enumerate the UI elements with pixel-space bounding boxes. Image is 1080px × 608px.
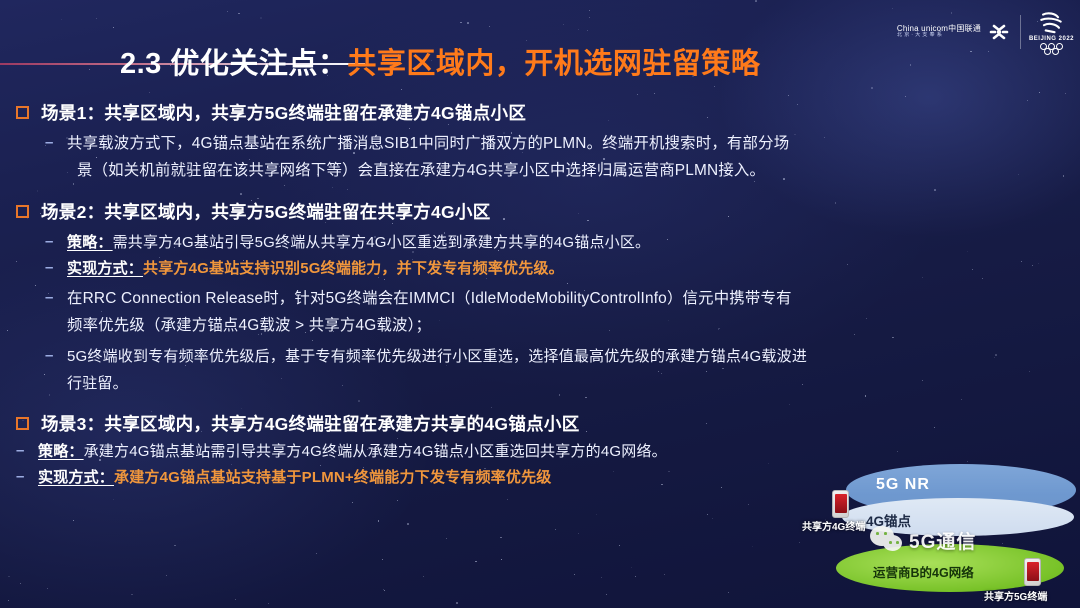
- dash-bullet-icon: –: [45, 286, 57, 310]
- unicom-knot-icon: [986, 19, 1012, 45]
- dash-bullet-icon: –: [16, 465, 28, 489]
- bullet-text: 在RRC Connection Release时，针对5G终端会在IMMCI（I…: [67, 286, 792, 340]
- phone-4g-icon: [832, 490, 849, 518]
- winter-olympics-emblem-icon: [1036, 10, 1066, 35]
- scene-1: 场景1：共享区域内，共享方5G终端驻留在承建方4G锚点小区 – 共享载波方式下，…: [0, 100, 1080, 185]
- bullet-line: 承建方4G锚点基站需引导共享方4G终端从承建方4G锚点小区重选回共享方的4G网络…: [84, 443, 667, 460]
- phone-screen: [835, 494, 847, 513]
- operator-b-label: 运营商B的4G网络: [873, 562, 974, 581]
- phone-4g-caption: 共享方4G终端: [802, 518, 865, 533]
- bullet-line: 景（如关机前就驻留在该共享网络下等）会直接在承建方4G共享小区中选择归属运营商P…: [67, 158, 765, 185]
- scene-2: 场景2：共享区域内，共享方5G终端驻留在共享方4G小区 – 策略：需共享方4G基…: [0, 199, 1080, 397]
- bullet-text: 共享载波方式下，4G锚点基站在系统广播消息SIB1中同时广播双方的PLMN。终端…: [67, 131, 789, 185]
- dash-bullet-icon: –: [45, 344, 57, 368]
- square-bullet-icon: [16, 106, 29, 119]
- bullet-line: 需共享方4G基站引导5G终端从共享方4G小区重选到承建方共享的4G锚点小区。: [113, 234, 651, 251]
- bullet-text: 策略：需共享方4G基站引导5G终端从共享方4G小区重选到承建方共享的4G锚点小区…: [67, 230, 650, 256]
- scene-2-header: 场景2：共享区域内，共享方5G终端驻留在共享方4G小区: [0, 199, 1080, 224]
- olympic-rings-lower-icon: [1044, 48, 1059, 55]
- beijing-2022-text: BEIJING 2022: [1029, 36, 1074, 42]
- scene-2-bullets: – 策略：需共享方4G基站引导5G终端从共享方4G小区重选到承建方共享的4G锚点…: [0, 230, 1080, 397]
- phone-5g-icon: [1024, 558, 1041, 586]
- bullet-item: – 5G终端收到专有频率优先级后，基于专有频率优先级进行小区重选，选择值最高优先…: [0, 344, 1080, 397]
- unicom-wordmark: China unicom中国联通 北 京 · 大 支 奉 系: [897, 25, 981, 39]
- bullet-item: – 策略：需共享方4G基站引导5G终端从共享方4G小区重选到承建方共享的4G锚点…: [0, 230, 1080, 256]
- scene-1-header: 场景1：共享区域内，共享方5G终端驻留在承建方4G锚点小区: [0, 100, 1080, 125]
- wechat-watermark: 5G通信: [870, 526, 976, 554]
- dash-bullet-icon: –: [45, 256, 57, 280]
- bullet-text: 5G终端收到专有频率优先级后，基于专有频率优先级进行小区重选，选择值最高优先级的…: [67, 344, 807, 397]
- beijing-2022-logo: BEIJING 2022: [1029, 10, 1074, 55]
- bullet-line: 承建方4G锚点基站支持基于PLMN+终端能力下发专有频率优先级: [114, 469, 551, 486]
- bullet-text: 策略：承建方4G锚点基站需引导共享方4G终端从承建方4G锚点小区重选回共享方的4…: [38, 439, 667, 465]
- watermark-text: 5G通信: [909, 527, 976, 554]
- bullet-line: 行驻留。: [67, 375, 128, 392]
- network-diagram: 5G NR 4G锚点 运营商B的4G网络 共享方4G终端 共享方5G终端 5G通…: [818, 458, 1080, 608]
- bullet-label: 策略：: [67, 234, 113, 251]
- scene-3-header: 场景3：共享区域内，共享方4G终端驻留在承建方共享的4G锚点小区: [0, 411, 1080, 436]
- bullet-line: 5G终端收到专有频率优先级后，基于专有频率优先级进行小区重选，选择值最高优先级的…: [67, 348, 807, 365]
- scene-3-title: 场景3：共享区域内，共享方4G终端驻留在承建方共享的4G锚点小区: [41, 411, 580, 436]
- scene-1-bullets: – 共享载波方式下，4G锚点基站在系统广播消息SIB1中同时广播双方的PLMN。…: [0, 131, 1080, 185]
- title-prefix: 2.3 优化关注点：: [120, 48, 347, 80]
- bullet-item: – 共享载波方式下，4G锚点基站在系统广播消息SIB1中同时广播双方的PLMN。…: [0, 131, 1080, 185]
- bullet-line: 共享方4G基站支持识别5G终端能力，并下发专有频率优先级。: [143, 260, 564, 277]
- bullet-line: 在RRC Connection Release时，针对5G终端会在IMMCI（I…: [67, 290, 792, 307]
- dash-bullet-icon: –: [16, 439, 28, 463]
- wechat-logo-icon: [870, 526, 904, 554]
- page-title: 2.3 优化关注点：共享区域内，开机选网驻留策略: [120, 40, 950, 82]
- scene-1-title: 场景1：共享区域内，共享方5G终端驻留在承建方4G锚点小区: [41, 100, 526, 125]
- unicom-tagline: 北 京 · 大 支 奉 系: [897, 33, 981, 38]
- 5g-nr-label: 5G NR: [876, 476, 930, 494]
- square-bullet-icon: [16, 417, 29, 430]
- scene-2-title: 场景2：共享区域内，共享方5G终端驻留在共享方4G小区: [41, 199, 491, 224]
- title-highlight: 共享区域内，开机选网驻留策略: [347, 48, 760, 80]
- dash-bullet-icon: –: [45, 131, 57, 155]
- slide-body: 场景1：共享区域内，共享方5G终端驻留在承建方4G锚点小区 – 共享载波方式下，…: [0, 100, 1080, 495]
- phone-5g-caption: 共享方5G终端: [984, 588, 1047, 603]
- bullet-item: – 在RRC Connection Release时，针对5G终端会在IMMCI…: [0, 286, 1080, 340]
- slide-canvas: China unicom中国联通 北 京 · 大 支 奉 系: [0, 0, 1080, 608]
- square-bullet-icon: [16, 205, 29, 218]
- bullet-label: 实现方式：: [38, 469, 114, 486]
- bullet-text: 实现方式：共享方4G基站支持识别5G终端能力，并下发专有频率优先级。: [67, 256, 564, 282]
- phone-screen: [1027, 562, 1039, 581]
- logo-divider: [1020, 15, 1021, 49]
- bullet-item: – 实现方式：共享方4G基站支持识别5G终端能力，并下发专有频率优先级。: [0, 256, 1080, 282]
- dash-bullet-icon: –: [45, 230, 57, 254]
- bullet-label: 策略：: [38, 443, 84, 460]
- bullet-text: 实现方式：承建方4G锚点基站支持基于PLMN+终端能力下发专有频率优先级: [38, 465, 551, 491]
- bullet-label: 实现方式：: [67, 260, 143, 277]
- bullet-line: 共享载波方式下，4G锚点基站在系统广播消息SIB1中同时广播双方的PLMN。终端…: [67, 135, 789, 152]
- bullet-line: 频率优先级（承建方锚点4G载波 > 共享方4G载波）；: [67, 317, 431, 334]
